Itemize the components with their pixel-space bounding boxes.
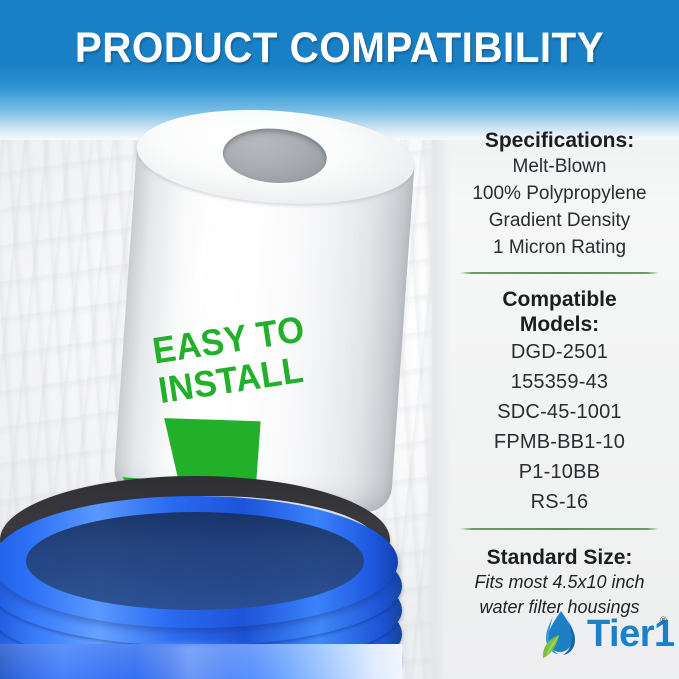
cartridge-center-hole — [221, 125, 329, 186]
housing-rim — [0, 496, 398, 628]
filter-housing — [0, 448, 406, 679]
specification-item: 1 Micron Rating — [440, 234, 679, 261]
standard-size-heading: Standard Size: — [440, 545, 679, 570]
specification-item: Melt-Blown — [440, 153, 679, 180]
product-illustration: EASY TO INSTALL — [0, 96, 440, 679]
compatible-models-heading-line1: Compatible — [440, 287, 679, 312]
model-item: DGD-2501 — [440, 337, 679, 367]
housing-rim-inner — [26, 512, 364, 610]
model-item: FPMB-BB1-10 — [440, 427, 679, 457]
standard-size-line1: Fits most 4.5x10 inch — [440, 570, 679, 595]
page-title: PRODUCT COMPATIBILITY — [20, 24, 658, 73]
specification-item: 100% Polypropylene — [440, 180, 679, 207]
model-item: RS-16 — [440, 487, 679, 517]
section-divider — [460, 272, 659, 274]
housing-body-highlight — [136, 644, 256, 679]
section-divider — [460, 528, 659, 530]
product-compatibility-infographic: PRODUCT COMPATIBILITY EASY TO INSTALL — [0, 0, 679, 679]
specification-item: Gradient Density — [440, 207, 679, 234]
compatible-models-heading-line2: Models: — [440, 312, 679, 337]
logo-trademark: ® — [660, 616, 667, 625]
model-item: P1-10BB — [440, 457, 679, 487]
model-item: 155359-43 — [440, 367, 679, 397]
model-item: SDC-45-1001 — [440, 397, 679, 427]
specifications-heading: Specifications: — [440, 128, 679, 153]
brand-logo: Tier1 ® — [537, 608, 669, 664]
compatible-models-block: Compatible Models: DGD-2501 155359-43 SD… — [440, 283, 679, 517]
specifications-block: Specifications: Melt-Blown 100% Polyprop… — [440, 110, 679, 261]
info-panel: Specifications: Melt-Blown 100% Polyprop… — [440, 110, 679, 620]
water-drop-leaf-icon — [537, 610, 585, 660]
